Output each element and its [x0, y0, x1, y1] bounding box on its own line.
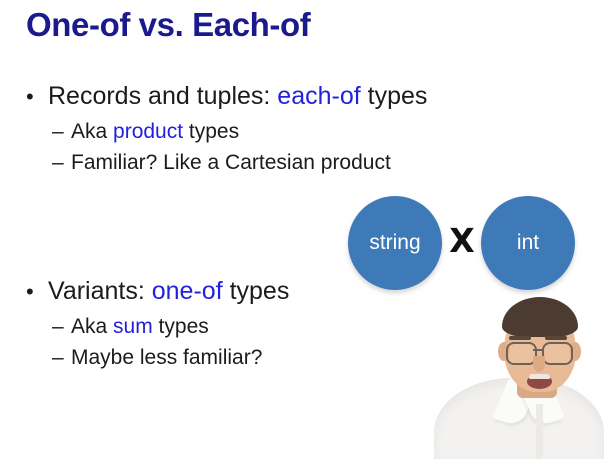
bullet-item-text: Variants: one-of types	[48, 279, 289, 304]
page-title: One-of vs. Each-of	[26, 6, 310, 44]
text-segment: Aka	[71, 315, 113, 338]
sub-bullet-marker-icon: –	[52, 316, 71, 337]
presenter-glasses-right	[542, 342, 573, 365]
highlighted-term: one-of	[152, 277, 223, 305]
text-segment: Maybe less familiar?	[71, 346, 262, 369]
cartesian-product-diagram: string X int	[340, 190, 585, 295]
sub-bullet-item: –Aka sum types	[0, 316, 440, 337]
presenter-nose	[533, 356, 545, 372]
text-segment: types	[223, 277, 290, 305]
sub-bullet-marker-icon: –	[52, 121, 71, 142]
sub-bullet-item-text: Maybe less familiar?	[71, 347, 262, 368]
presenter-teeth	[529, 374, 550, 379]
sub-bullet-item-text: Familiar? Like a Cartesian product	[71, 152, 391, 173]
presenter-eyebrow-right	[545, 336, 567, 340]
sub-bullet-item-text: Aka product types	[71, 121, 239, 142]
bullet-marker-icon: •	[26, 86, 48, 108]
circle-string-label: string	[369, 231, 420, 255]
circle-int: int	[481, 196, 575, 290]
text-segment: types	[183, 120, 239, 143]
sub-bullet-marker-icon: –	[52, 347, 71, 368]
sub-bullet-item: –Maybe less familiar?	[0, 347, 440, 368]
highlighted-term: product	[113, 120, 183, 143]
presenter-shirt-placket	[536, 404, 543, 459]
sub-bullet-item: –Aka product types	[0, 121, 440, 142]
bullet-item-text: Records and tuples: each-of types	[48, 84, 427, 109]
text-segment: Variants:	[48, 277, 152, 305]
bullet-marker-icon: •	[26, 281, 48, 303]
presenter-hair	[502, 297, 578, 337]
circle-string: string	[348, 196, 442, 290]
bullet-group-each-of: •Records and tuples: each-of types–Aka p…	[0, 84, 440, 183]
presenter-eyebrow-left	[509, 336, 531, 340]
sub-bullet-marker-icon: –	[52, 152, 71, 173]
text-segment: Aka	[71, 120, 113, 143]
slide-canvas: One-of vs. Each-of •Records and tuples: …	[0, 0, 605, 459]
sub-bullet-item-text: Aka sum types	[71, 316, 209, 337]
cross-product-operator-icon: X	[444, 221, 480, 260]
text-segment: types	[361, 82, 428, 110]
sub-bullet-item: –Familiar? Like a Cartesian product	[0, 152, 440, 173]
text-segment: Records and tuples:	[48, 82, 277, 110]
highlighted-term: each-of	[277, 82, 360, 110]
bullet-item-each-of: •Records and tuples: each-of types	[0, 84, 440, 109]
presenter-video-overlay	[432, 292, 605, 459]
text-segment: Familiar? Like a Cartesian product	[71, 151, 391, 174]
presenter-glasses-bridge	[533, 349, 542, 351]
text-segment: types	[153, 315, 209, 338]
circle-int-label: int	[517, 231, 539, 255]
highlighted-term: sum	[113, 315, 153, 338]
